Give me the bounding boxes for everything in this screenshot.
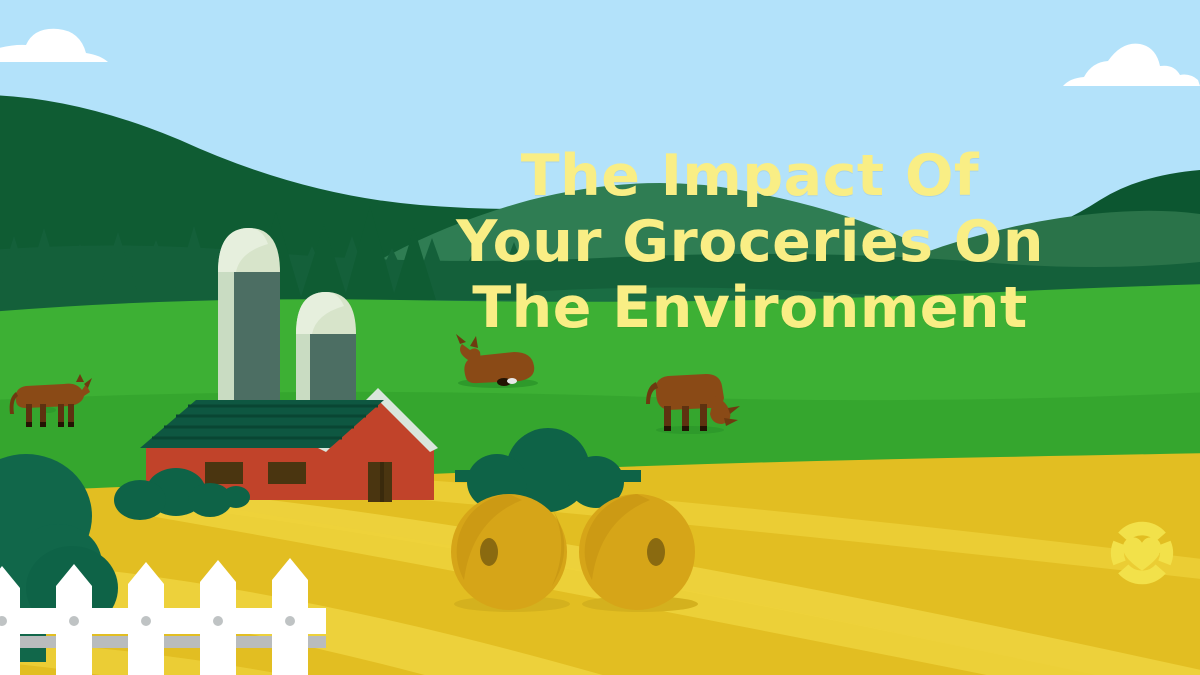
silo-short <box>296 292 356 418</box>
barn-window-right <box>268 462 306 484</box>
poster-canvas: The Impact Of Your Groceries On The Envi… <box>0 0 1200 675</box>
fence-rail-upper <box>0 608 326 634</box>
eco-heart-logo[interactable] <box>1108 519 1176 587</box>
barn-window-left <box>205 462 243 484</box>
farm-landscape-illustration <box>0 0 1200 675</box>
silo-tall <box>218 228 280 418</box>
